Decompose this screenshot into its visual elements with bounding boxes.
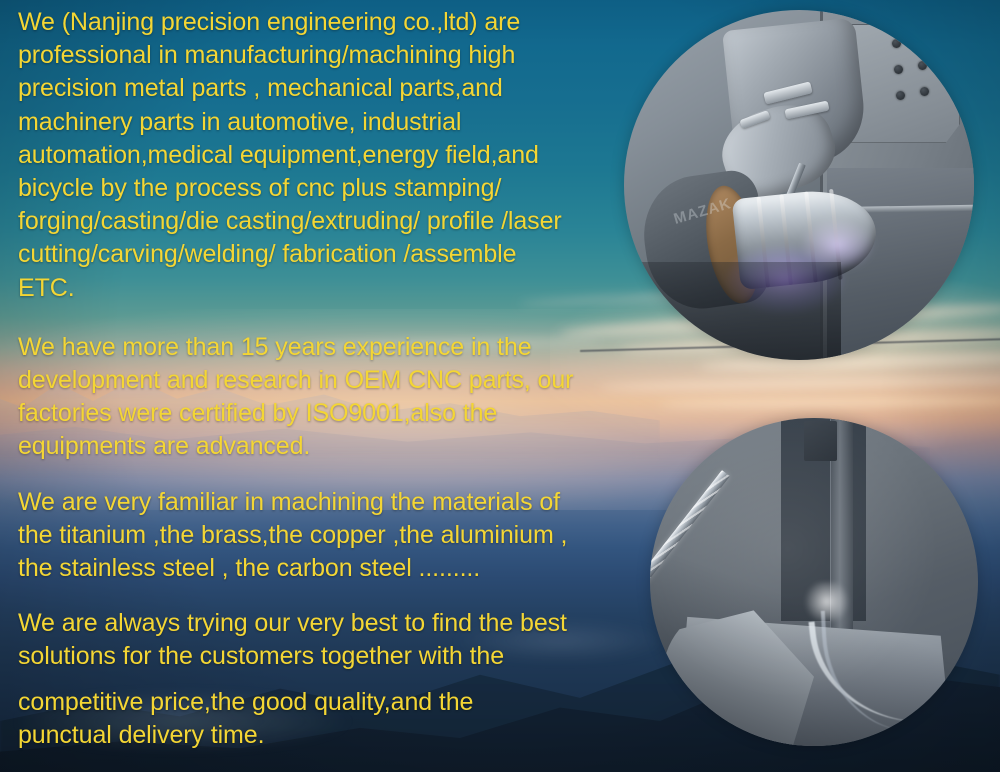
paragraph-spacer: [18, 674, 630, 686]
copy-line: factories were certified by ISO9001,also…: [18, 399, 497, 427]
paragraph-spacer: [18, 464, 630, 486]
copy-line: precision metal parts , mechanical parts…: [18, 74, 503, 102]
paragraph-experience: We have more than 15 years experience in…: [18, 331, 630, 464]
photo-drilling-operation: [650, 418, 978, 746]
copy-line: ETC.: [18, 274, 75, 302]
copy-line: We are very familiar in machining the ma…: [18, 488, 560, 516]
paragraph-commitment-continued: competitive price,the good quality,and t…: [18, 686, 630, 752]
copy-line: the stainless steel , the carbon steel .…: [18, 554, 480, 582]
paragraph-materials: We are very familiar in machining the ma…: [18, 486, 630, 586]
copy-line: development and research in OEM CNC part…: [18, 366, 573, 394]
copy-line: punctual delivery time.: [18, 721, 264, 749]
copy-line: solutions for the customers together wit…: [18, 642, 504, 670]
paragraph-commitment: We are always trying our very best to fi…: [18, 607, 630, 673]
photo-cnc-mill-turn: MAZAK: [624, 10, 974, 360]
copy-line: the titanium ,the brass,the copper ,the …: [18, 521, 567, 549]
paragraph-spacer: [18, 305, 630, 331]
paragraph-spacer: [18, 585, 630, 607]
copy-line: machinery parts in automotive, industria…: [18, 108, 461, 136]
machine-shadow: [624, 262, 841, 360]
copy-line: We have more than 15 years experience in…: [18, 333, 532, 361]
copy-line: bicycle by the process of cnc plus stamp…: [18, 174, 501, 202]
copy-line: We (Nanjing precision engineering co.,lt…: [18, 8, 520, 36]
copy-line: We are always trying our very best to fi…: [18, 609, 567, 637]
paragraph-company-intro: We (Nanjing precision engineering co.,lt…: [18, 6, 630, 305]
company-profile-banner: MAZAK We (Nanjing precision engineering …: [0, 0, 1000, 772]
bolt-holes: [890, 35, 946, 126]
copy-line: forging/casting/die casting/extruding/ p…: [18, 207, 562, 235]
copy-line: competitive price,the good quality,and t…: [18, 688, 473, 716]
photo-shading: [650, 418, 978, 746]
copy-line: automation,medical equipment,energy fiel…: [18, 141, 539, 169]
copy-line: equipments are advanced.: [18, 432, 310, 460]
copy-line: cutting/carving/welding/ fabrication /as…: [18, 240, 516, 268]
copy-line: professional in manufacturing/machining …: [18, 41, 515, 69]
marketing-copy: We (Nanjing precision engineering co.,lt…: [18, 6, 630, 752]
